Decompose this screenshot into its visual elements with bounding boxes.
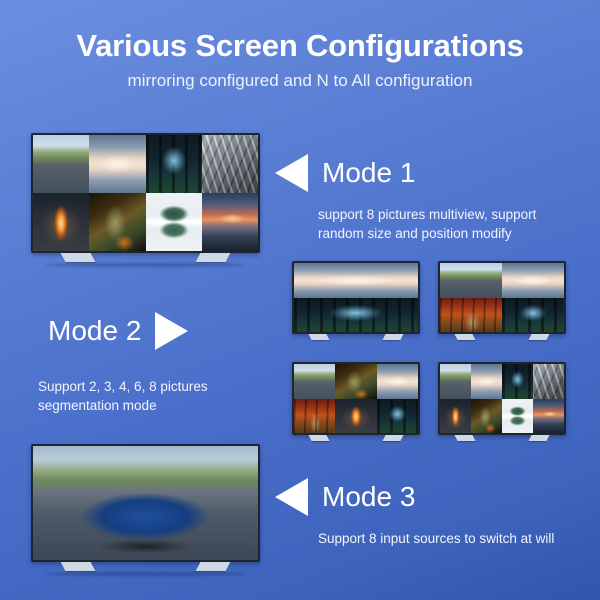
tv-screen-bezel: SILVERSTONE <box>31 444 260 562</box>
tile-mirrored-clouds <box>294 263 418 298</box>
tile-car-on-track <box>294 364 335 399</box>
tile-car-on-track <box>33 135 89 193</box>
triangle-left-icon <box>275 478 308 516</box>
tv-mode1-multiview <box>31 133 260 253</box>
tile-mirrored-clouds <box>377 364 418 399</box>
tv-leg-right <box>382 435 403 441</box>
page-title: Various Screen Configurations <box>0 27 600 65</box>
tv-leg-left <box>308 435 329 441</box>
tv-grid-4x2 <box>33 135 258 251</box>
tv-leg-right <box>528 334 549 340</box>
tile-glowing-tunnel-figure <box>440 399 471 434</box>
tv-grid-4x2 <box>440 364 564 433</box>
tile-dark-forest-figures <box>377 399 418 434</box>
tile-dark-forest-figures <box>502 364 533 399</box>
tv-leg-right <box>196 562 231 571</box>
tv-screen-bezel <box>438 261 566 334</box>
tv-leg-left <box>454 435 475 441</box>
tile-mech-warrior-art <box>89 193 145 251</box>
tile-glowing-tunnel-figure <box>335 399 376 434</box>
tile-mirrored-clouds <box>471 364 502 399</box>
mode-3-heading: Mode 3 <box>275 478 415 516</box>
tile-mirrored-clouds <box>502 263 564 298</box>
tv-grid-2x2 <box>440 263 564 332</box>
tile-autumn-forest <box>294 399 335 434</box>
triangle-right-icon <box>155 312 188 350</box>
tile-mountain-lake-reflection <box>146 193 202 251</box>
tv-stand <box>438 435 566 445</box>
tv-leg-left <box>454 334 475 340</box>
tile-dark-forest-figures <box>502 298 564 333</box>
tile-glowing-tunnel-figure <box>33 193 89 251</box>
mode-2-label: Mode 2 <box>48 316 141 346</box>
tv-segmentation-split-4 <box>438 261 566 334</box>
tile-dark-forest-figures <box>294 298 418 333</box>
tv-grid-1x2 <box>294 263 418 332</box>
tv-stand <box>31 562 260 572</box>
mode-1-description: support 8 pictures multiview, support ra… <box>318 205 580 243</box>
tv-base-shadow <box>45 263 247 267</box>
tile-sunset-pier <box>533 399 564 434</box>
license-plate-text: SILVERSTONE <box>123 513 177 521</box>
tile-dark-forest-figures <box>146 135 202 193</box>
tv-leg-right <box>528 435 549 441</box>
tile-mech-warrior-art <box>471 399 502 434</box>
tv-grid-1x1: SILVERSTONE <box>33 446 258 560</box>
tile-city-architecture <box>533 364 564 399</box>
tile-city-architecture <box>202 135 258 193</box>
tv-segmentation-split-6 <box>292 362 420 435</box>
mode-3-label: Mode 3 <box>322 482 415 512</box>
mode-2-description: Support 2, 3, 4, 6, 8 pictures segmentat… <box>38 377 268 415</box>
tv-screen-bezel <box>438 362 566 435</box>
tile-car-on-track <box>440 263 502 298</box>
tile-blue-ferrari-racetrack: SILVERSTONE <box>33 446 258 560</box>
tv-stand <box>438 334 566 344</box>
tv-base-shadow <box>45 572 247 576</box>
poster-canvas: Various Screen Configurations mirroring … <box>0 0 600 600</box>
triangle-left-icon <box>275 154 308 192</box>
tile-mirrored-clouds <box>89 135 145 193</box>
tv-screen-bezel <box>31 133 260 253</box>
tv-segmentation-split-8 <box>438 362 566 435</box>
tv-stand <box>31 253 260 263</box>
tv-grid-3x2 <box>294 364 418 433</box>
mode-2-heading: Mode 2 <box>48 312 188 350</box>
tile-sunset-pier <box>202 193 258 251</box>
page-subtitle: mirroring configured and N to All config… <box>0 70 600 92</box>
tv-leg-left <box>308 334 329 340</box>
tile-car-on-track <box>440 364 471 399</box>
tv-leg-left <box>61 562 96 571</box>
mode-1-heading: Mode 1 <box>275 154 415 192</box>
tv-screen-bezel <box>292 261 420 334</box>
mode-1-label: Mode 1 <box>322 158 415 188</box>
tv-screen-bezel <box>292 362 420 435</box>
tile-mountain-lake-reflection <box>502 399 533 434</box>
tile-autumn-forest <box>440 298 502 333</box>
tile-mech-warrior-art <box>335 364 376 399</box>
tv-segmentation-split-2 <box>292 261 420 334</box>
tv-leg-right <box>196 253 231 262</box>
tv-leg-right <box>382 334 403 340</box>
tv-leg-left <box>61 253 96 262</box>
tv-mode3-fullscreen: SILVERSTONE <box>31 444 260 562</box>
tv-stand <box>292 435 420 445</box>
tv-stand <box>292 334 420 344</box>
mode-3-description: Support 8 input sources to switch at wil… <box>318 529 580 548</box>
